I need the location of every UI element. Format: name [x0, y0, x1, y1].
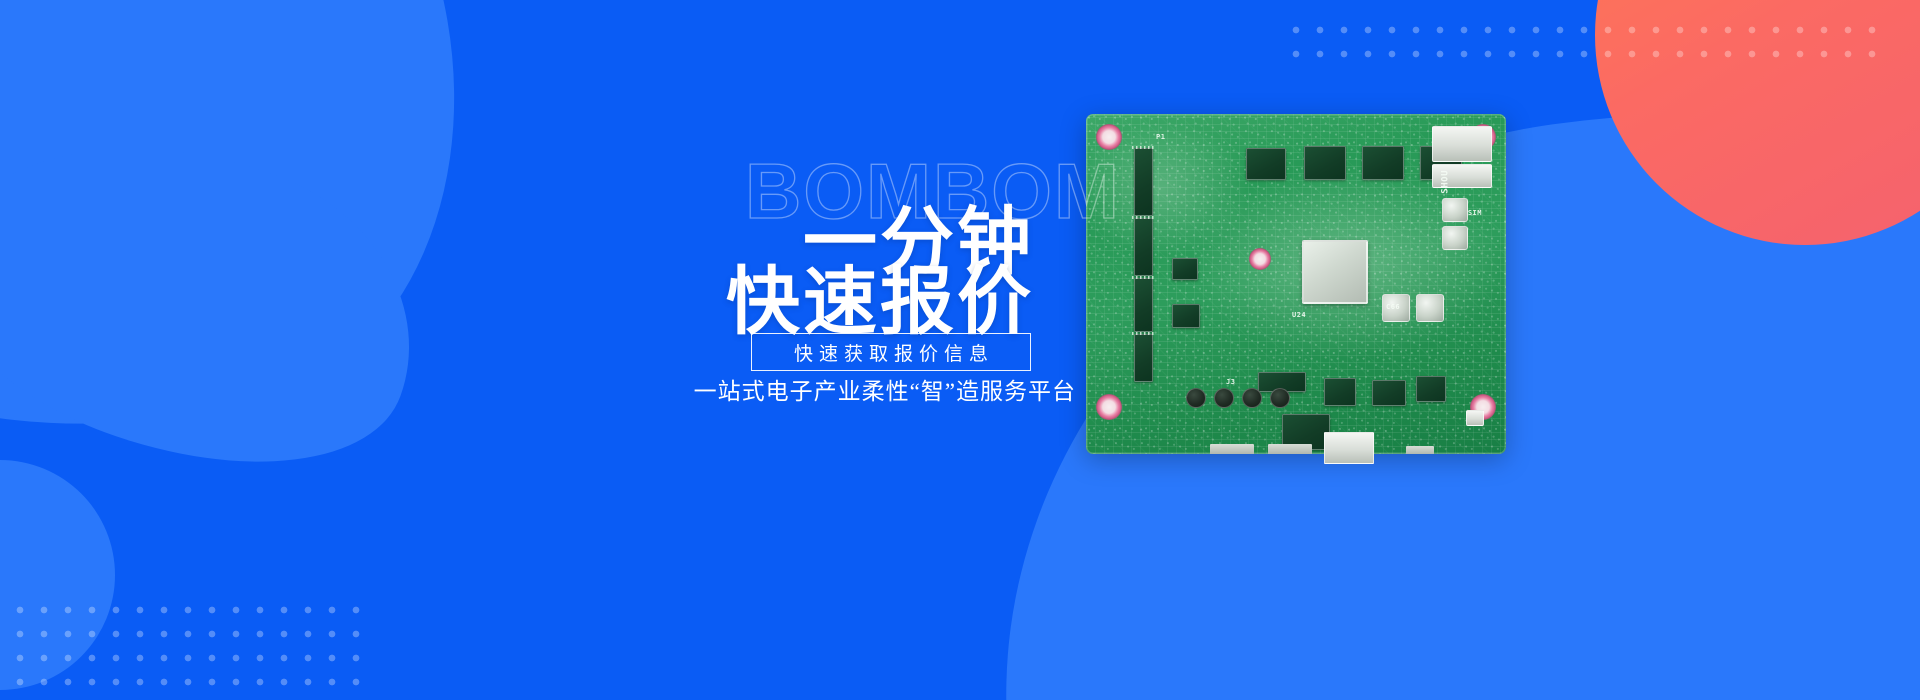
pcb-main-processor — [1302, 240, 1368, 304]
pcb-edge-port — [1406, 446, 1434, 454]
pcb-signal-connector — [1249, 248, 1271, 270]
pcb-label-ref-3: J3 — [1226, 379, 1235, 386]
pcb-capacitor — [1270, 388, 1290, 408]
dot-grid-top-right — [1284, 18, 1884, 66]
pcb-label-ref-5: C66 — [1386, 304, 1400, 311]
pcb-label-ref-2: U24 — [1292, 312, 1306, 319]
pcb-edge-port — [1268, 444, 1312, 454]
pcb-chip — [1416, 376, 1446, 402]
pcb-sim-connector — [1432, 126, 1492, 162]
pcb-capacitor — [1186, 388, 1206, 408]
pcb-mount-hole — [1096, 394, 1122, 420]
pcb-chip — [1134, 334, 1153, 382]
pcb-chip — [1172, 304, 1200, 328]
pcb-chip — [1304, 146, 1346, 180]
pcb-chip — [1372, 380, 1406, 406]
pcb-chip — [1134, 218, 1153, 276]
pcb-capacitor — [1242, 388, 1262, 408]
pcb-inductor — [1442, 198, 1468, 222]
pcb-label-ref-1: P1 — [1156, 134, 1165, 141]
background-decoration-layer — [0, 0, 1920, 700]
pcb-inductor — [1442, 226, 1468, 250]
pcb-usb-housing — [1324, 432, 1374, 464]
pcb-chip — [1324, 378, 1356, 406]
pcb-capacitor — [1214, 388, 1234, 408]
pcb-chip — [1134, 148, 1153, 216]
pcb-chip — [1246, 148, 1286, 180]
pcb-chip — [1362, 146, 1404, 180]
promo-banner: SHOU P1 U24 J3 SIM C66 BOMBOM 一分钟 快速报价 快… — [0, 0, 1920, 700]
pcb-board: SHOU P1 U24 J3 SIM C66 — [1086, 114, 1506, 454]
pcb-label-brand: SHOU — [1442, 170, 1451, 194]
pcb-connector — [1466, 410, 1484, 426]
pcb-chip — [1134, 278, 1153, 332]
pcb-mount-hole — [1096, 124, 1122, 150]
dot-grid-bottom-left — [8, 598, 376, 694]
pcb-inductor — [1416, 294, 1444, 322]
pcb-edge-port — [1210, 444, 1254, 454]
pcb-product-image: SHOU P1 U24 J3 SIM C66 — [1086, 114, 1506, 454]
pcb-label-ref-4: SIM — [1468, 210, 1482, 217]
pcb-chip — [1172, 258, 1198, 280]
